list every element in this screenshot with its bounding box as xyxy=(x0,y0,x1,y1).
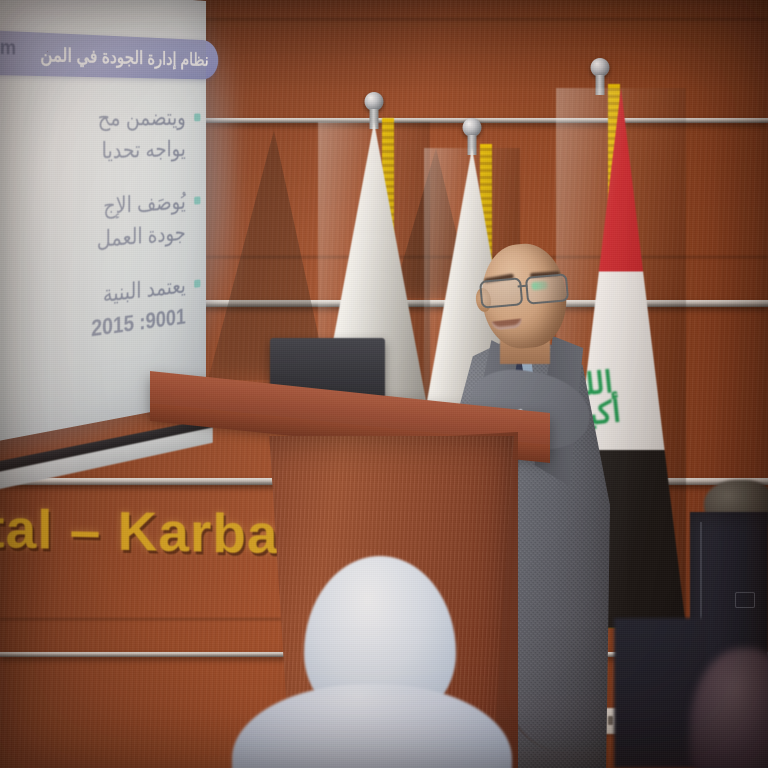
lens-reflection xyxy=(531,281,548,290)
audience-hijab-front xyxy=(232,556,512,768)
photo-scene: ital – Karba نظام إدارة الجودة في المن m… xyxy=(0,0,768,768)
cabinet-latch[interactable] xyxy=(735,592,755,608)
eyeglass-lens-left xyxy=(479,277,523,309)
audience-shoulders xyxy=(232,684,512,768)
